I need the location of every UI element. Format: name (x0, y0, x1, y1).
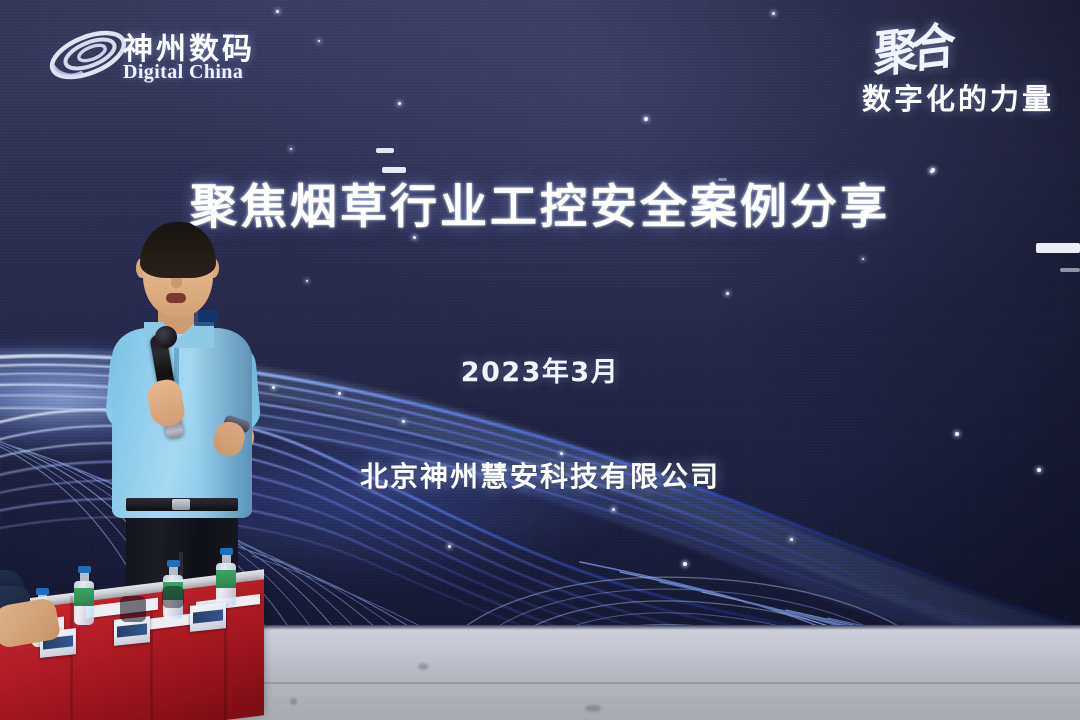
particle (306, 280, 308, 282)
particle (448, 545, 451, 548)
particle (612, 508, 615, 511)
water-bottle (74, 566, 94, 625)
name-card-band (193, 609, 223, 623)
speaker-hair (140, 222, 216, 278)
floor-mark (585, 705, 601, 712)
particle (338, 392, 341, 395)
bottle-neck (80, 573, 89, 581)
spiral-swirl-icon (45, 26, 131, 84)
digital-china-logo: 神州数码 Digital China (45, 24, 315, 90)
bottle-neck (169, 567, 178, 575)
particle (398, 102, 401, 105)
light-streak (1036, 243, 1080, 253)
theme-calligraphy: 聚合 (874, 5, 951, 87)
bottle-cap (167, 560, 180, 567)
brand-name-en: Digital China (123, 61, 243, 84)
particle (413, 236, 416, 239)
particle (862, 258, 864, 260)
table-cloth-fold (70, 596, 73, 720)
bottle-label (216, 570, 236, 588)
water-bottle (216, 548, 236, 607)
bottle-cap (220, 548, 233, 555)
particle (683, 562, 687, 566)
particle (402, 420, 405, 423)
particle (772, 12, 775, 15)
table-cloth-fold (150, 596, 153, 720)
light-streak (1060, 268, 1080, 272)
theme-logo: 聚合 数字化的力量 (798, 18, 1058, 114)
shirt-logo-badge (194, 310, 218, 326)
particle (955, 432, 959, 436)
particle (290, 148, 292, 150)
speaker-mouth (166, 293, 186, 303)
particle (644, 117, 648, 121)
particle (726, 292, 729, 295)
bottle-neck (222, 555, 231, 563)
bottle-label (74, 588, 94, 606)
particle (318, 40, 320, 42)
particle (931, 168, 935, 172)
particle (790, 538, 793, 541)
light-streak (382, 167, 406, 173)
name-card-band (117, 623, 147, 637)
table-object (162, 586, 184, 608)
floor-mark (418, 663, 428, 670)
table-object (120, 596, 146, 622)
bottle-cap (36, 588, 49, 595)
bottle-body (74, 581, 94, 625)
bottle-body (216, 563, 236, 607)
floor-mark (290, 698, 297, 705)
belt-buckle (172, 499, 190, 510)
conference-stage-photo: 神州数码 Digital China 聚合 数字化的力量 聚焦烟草行业工控安全案… (0, 0, 1080, 720)
particle (276, 10, 279, 13)
theme-tagline: 数字化的力量 (862, 76, 1054, 118)
bottle-cap (78, 566, 91, 573)
name-card (190, 602, 226, 632)
light-streak (376, 148, 394, 153)
